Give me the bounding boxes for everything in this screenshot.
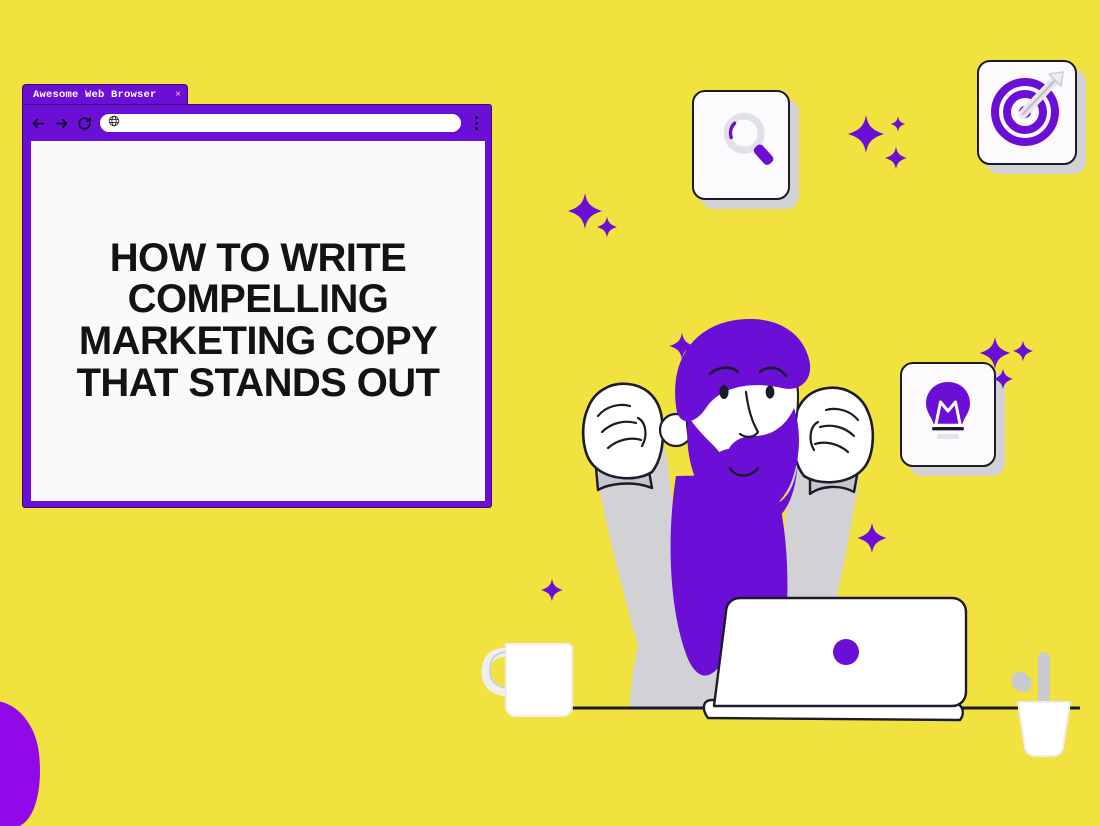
browser-viewport: How to write compelling marketing copy t… [31,141,485,501]
browser-tab-strip: Awesome Web Browser × [22,84,492,104]
browser-window: Awesome Web Browser × [22,84,492,508]
search-card[interactable] [692,90,790,200]
coffee-mug [486,644,572,716]
browser-tab[interactable]: Awesome Web Browser × [22,84,188,104]
sparkle-icon [884,146,908,170]
card-face [692,90,790,200]
potted-cactus [1012,652,1071,756]
magnifying-glass-icon [704,106,778,185]
close-icon[interactable]: × [175,90,181,100]
cheering-man-illustration [480,240,1100,826]
browser-chrome: How to write compelling marketing copy t… [22,104,492,508]
laptop-logo [833,639,859,665]
browser-tab-title: Awesome Web Browser [33,89,157,101]
globe-icon [108,114,120,132]
page-title: How to write compelling marketing copy t… [31,238,485,404]
sparkle-icon [846,114,886,154]
sparkle-icon [596,216,618,238]
reload-icon[interactable] [77,116,92,131]
url-bar[interactable] [100,114,461,132]
sparkle-icon [890,116,906,132]
card-face [977,60,1077,165]
kebab-menu-icon[interactable] [469,114,483,132]
forward-arrow-icon[interactable] [54,116,69,131]
browser-toolbar [31,112,483,134]
target-dartboard-icon [985,68,1069,157]
decorative-swoosh [0,696,48,826]
back-arrow-icon[interactable] [31,116,46,131]
target-card[interactable] [977,60,1077,165]
hero-illustration [480,240,1100,826]
poster-canvas: Awesome Web Browser × [0,0,1100,826]
